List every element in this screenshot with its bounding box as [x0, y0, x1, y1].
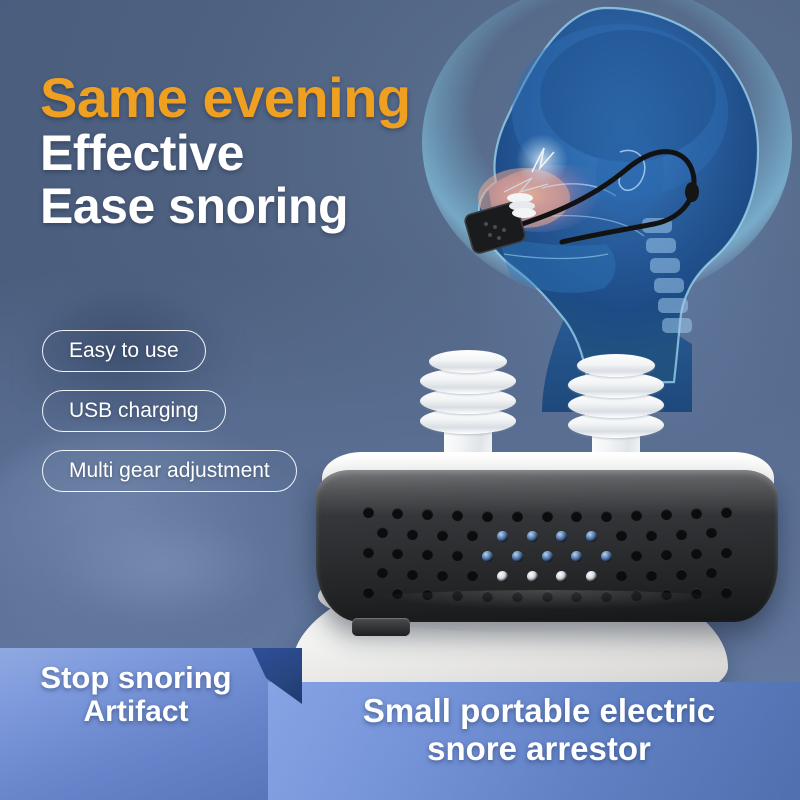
vent-hole: [407, 569, 418, 580]
vent-hole: [646, 530, 657, 541]
bottom-right-line-2: snore arrestor: [290, 730, 788, 768]
vent-hole: [437, 570, 448, 581]
vent-hole: [601, 551, 612, 562]
vent-hole: [363, 507, 374, 518]
vent-hole: [556, 531, 567, 542]
vent-hole: [497, 571, 508, 582]
vent-hole: [392, 548, 403, 559]
vent-hole: [497, 531, 508, 542]
vent-hole: [407, 529, 418, 540]
vent-hole: [706, 567, 717, 578]
product-advertisement: Same evening Effective Ease snoring Easy…: [0, 0, 800, 800]
vent-hole: [571, 511, 582, 522]
vent-hole: [661, 549, 672, 560]
vent-hole: [377, 527, 388, 538]
device-black-body: [316, 470, 778, 622]
vent-hole: [422, 509, 433, 520]
vent-hole: [676, 569, 687, 580]
bottom-right-line-1: Small portable electric: [290, 692, 788, 730]
vent-hole: [467, 530, 478, 541]
vent-hole: [721, 547, 732, 558]
vent-hole: [482, 551, 493, 562]
vent-hole: [676, 529, 687, 540]
strap-adjuster: [685, 182, 699, 202]
bottom-left-banner-text: Stop snoring Artifact: [0, 660, 272, 730]
bottom-right-banner-text: Small portable electric snore arrestor: [290, 692, 788, 767]
headline-line-2: Effective: [40, 127, 411, 180]
feature-pill-multi-gear-adjustment[interactable]: Multi gear adjustment: [42, 450, 297, 492]
vent-hole: [616, 530, 627, 541]
vent-hole: [512, 551, 523, 562]
feature-pill-usb-charging[interactable]: USB charging: [42, 390, 226, 432]
vent-hole: [631, 510, 642, 521]
headline-line-1: Same evening: [40, 68, 411, 127]
headline-block: Same evening Effective Ease snoring: [40, 68, 411, 233]
vent-hole: [556, 571, 567, 582]
vent-hole: [542, 511, 553, 522]
vent-hole: [467, 570, 478, 581]
vent-hole: [721, 507, 732, 518]
vent-hole: [646, 570, 657, 581]
vent-hole: [437, 530, 448, 541]
vent-hole: [512, 511, 523, 522]
vent-hole: [482, 511, 493, 522]
vent-hole: [691, 508, 702, 519]
feature-pill-list: Easy to use USB charging Multi gear adju…: [42, 330, 297, 510]
vent-hole: [377, 567, 388, 578]
vent-hole: [601, 511, 612, 522]
vent-hole: [571, 551, 582, 562]
vent-hole: [452, 550, 463, 561]
vent-hole: [661, 509, 672, 520]
ear-shape: [596, 130, 664, 218]
vent-hole: [542, 551, 553, 562]
vent-hole: [586, 531, 597, 542]
feature-pill-easy-to-use[interactable]: Easy to use: [42, 330, 206, 372]
bottom-left-line-1: Stop snoring: [0, 660, 272, 695]
vent-hole: [452, 510, 463, 521]
vent-hole: [691, 548, 702, 559]
vent-hole: [392, 508, 403, 519]
headline-line-3: Ease snoring: [40, 180, 411, 233]
vent-hole: [527, 571, 538, 582]
sleeping-person-arm: [40, 520, 290, 640]
bottom-left-line-2: Artifact: [0, 695, 272, 729]
vent-hole: [586, 571, 597, 582]
vent-hole: [706, 527, 717, 538]
vent-hole: [527, 531, 538, 542]
vent-hole: [616, 570, 627, 581]
vent-hole: [422, 549, 433, 560]
vent-hole: [363, 547, 374, 558]
vent-hole: [631, 550, 642, 561]
device-power-tab: [352, 618, 410, 636]
